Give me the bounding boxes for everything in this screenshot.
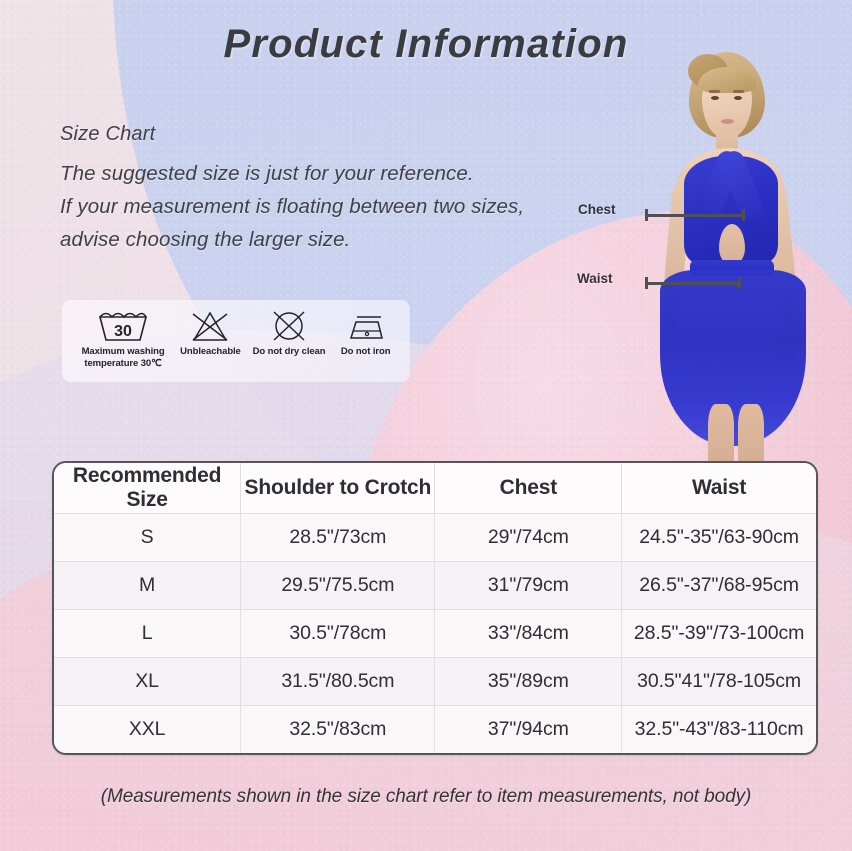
- column-header-recommended-size: Recommended Size: [54, 463, 241, 514]
- unbleachable-icon: [189, 307, 231, 345]
- care-item-washing: 30 Maximum washing temperature 30℃: [72, 307, 174, 370]
- cell-shoulder-to-crotch: 30.5"/78cm: [241, 610, 435, 658]
- intro-line-3: advise choosing the larger size.: [60, 223, 590, 256]
- waist-measure-line: [645, 282, 741, 285]
- table-row: M 29.5"/75.5cm 31"/79cm 26.5"-37"/68-95c…: [54, 562, 816, 610]
- table-header-row: Recommended Size Shoulder to Crotch Ches…: [54, 463, 816, 514]
- table-row: S 28.5"/73cm 29"/74cm 24.5"-35"/63-90cm: [54, 514, 816, 562]
- care-label-dry-clean: Do not dry clean: [253, 346, 326, 358]
- care-label-washing: Maximum washing temperature 30℃: [82, 346, 165, 370]
- table-row: XXL 32.5"/83cm 37"/94cm 32.5"-43"/83-110…: [54, 706, 816, 754]
- size-chart-table-container: Recommended Size Shoulder to Crotch Ches…: [52, 461, 818, 755]
- intro-line-2: If your measurement is floating between …: [60, 190, 590, 223]
- waist-measure-cap-right: [738, 277, 741, 289]
- cell-waist: 32.5"-43"/83-110cm: [622, 706, 816, 754]
- column-header-waist: Waist: [622, 463, 816, 514]
- cell-waist: 28.5"-39"/73-100cm: [622, 610, 816, 658]
- cell-chest: 29"/74cm: [435, 514, 622, 562]
- cell-size: M: [54, 562, 241, 610]
- model-eyebrow-left: [709, 90, 720, 93]
- model-photo: [612, 52, 852, 472]
- cell-size: L: [54, 610, 241, 658]
- footer-note: (Measurements shown in the size chart re…: [0, 786, 852, 808]
- cell-shoulder-to-crotch: 28.5"/73cm: [241, 514, 435, 562]
- intro-line-1: The suggested size is just for your refe…: [60, 157, 590, 190]
- waist-measure-label: Waist: [577, 271, 613, 286]
- cell-size: S: [54, 514, 241, 562]
- size-chart-table: Recommended Size Shoulder to Crotch Ches…: [54, 463, 816, 753]
- cell-size: XXL: [54, 706, 241, 754]
- size-chart-heading: Size Chart: [60, 123, 590, 146]
- model-lips: [721, 119, 734, 124]
- column-header-shoulder-to-crotch: Shoulder to Crotch: [241, 463, 435, 514]
- wash-tub-30-icon: 30: [96, 307, 150, 345]
- do-not-dry-clean-icon: [269, 307, 309, 345]
- model-eyebrow-right: [733, 90, 744, 93]
- care-item-iron: Do not iron: [331, 307, 400, 358]
- column-header-chest: Chest: [435, 463, 622, 514]
- svg-text:30: 30: [114, 323, 132, 340]
- dress-waist-cutout: [719, 224, 745, 264]
- table-row: XL 31.5"/80.5cm 35"/89cm 30.5"41"/78-105…: [54, 658, 816, 706]
- chest-measure-label: Chest: [578, 202, 616, 217]
- chest-measure-cap-left: [645, 209, 648, 221]
- care-item-dry-clean: Do not dry clean: [247, 307, 331, 358]
- model-eye-left: [711, 96, 719, 100]
- product-information-page: Product Information Size Chart The sugge…: [0, 0, 852, 851]
- cell-waist: 24.5"-35"/63-90cm: [622, 514, 816, 562]
- care-instructions-panel: 30 Maximum washing temperature 30℃ Unble…: [62, 300, 410, 382]
- chest-measure-cap-right: [742, 209, 745, 221]
- cell-chest: 37"/94cm: [435, 706, 622, 754]
- cell-size: XL: [54, 658, 241, 706]
- page-title-text: Product Information: [223, 22, 628, 66]
- care-label-bleach: Unbleachable: [180, 346, 241, 358]
- care-item-bleach: Unbleachable: [174, 307, 247, 358]
- care-label-iron: Do not iron: [341, 346, 391, 358]
- cell-chest: 33"/84cm: [435, 610, 622, 658]
- chest-measure-line: [645, 214, 745, 217]
- cell-chest: 35"/89cm: [435, 658, 622, 706]
- cell-shoulder-to-crotch: 32.5"/83cm: [241, 706, 435, 754]
- do-not-iron-icon: [344, 307, 388, 345]
- cell-shoulder-to-crotch: 29.5"/75.5cm: [241, 562, 435, 610]
- cell-waist: 26.5"-37"/68-95cm: [622, 562, 816, 610]
- intro-block: Size Chart The suggested size is just fo…: [60, 123, 590, 256]
- cell-chest: 31"/79cm: [435, 562, 622, 610]
- waist-measure-cap-left: [645, 277, 648, 289]
- table-row: L 30.5"/78cm 33"/84cm 28.5"-39"/73-100cm: [54, 610, 816, 658]
- model-eye-right: [734, 96, 742, 100]
- cell-waist: 30.5"41"/78-105cm: [622, 658, 816, 706]
- cell-shoulder-to-crotch: 31.5"/80.5cm: [241, 658, 435, 706]
